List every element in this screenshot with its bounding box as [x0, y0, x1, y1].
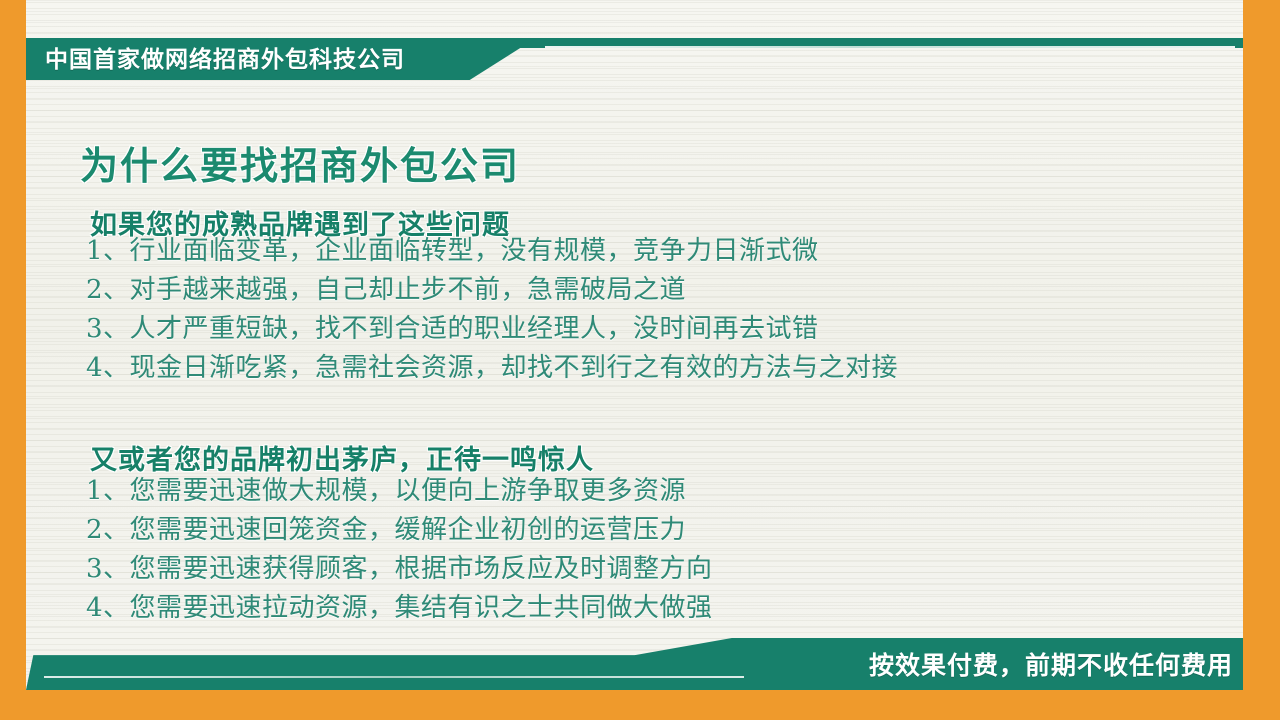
list-item: 3、人才严重短缺，找不到合适的职业经理人，没时间再去试错	[86, 310, 898, 349]
need-list-new-brand: 1、您需要迅速做大规模，以便向上游争取更多资源 2、您需要迅速回笼资金，缓解企业…	[86, 472, 713, 628]
bottom-bar-slogan: 按效果付费，前期不收任何费用	[869, 650, 1233, 682]
list-item: 4、您需要迅速拉动资源，集结有识之士共同做大做强	[86, 589, 713, 628]
top-band-accent-line	[545, 46, 1235, 48]
list-item: 4、现金日渐吃紧，急需社会资源，却找不到行之有效的方法与之对接	[86, 349, 898, 388]
list-item: 1、您需要迅速做大规模，以便向上游争取更多资源	[86, 472, 713, 511]
list-item: 3、您需要迅速获得顾客，根据市场反应及时调整方向	[86, 550, 713, 589]
bottom-bar-accent-line	[44, 676, 744, 678]
slide-canvas: 中国首家做网络招商外包科技公司 为什么要找招商外包公司 如果您的成熟品牌遇到了这…	[0, 0, 1280, 720]
list-item: 1、行业面临变革，企业面临转型，没有规模，竞争力日渐式微	[86, 232, 898, 271]
page-title: 为什么要找招商外包公司	[80, 143, 520, 191]
company-tagline: 中国首家做网络招商外包科技公司	[45, 44, 405, 74]
list-item: 2、您需要迅速回笼资金，缓解企业初创的运营压力	[86, 511, 713, 550]
list-item: 2、对手越来越强，自己却止步不前，急需破局之道	[86, 271, 898, 310]
problem-list-mature-brand: 1、行业面临变革，企业面临转型，没有规模，竞争力日渐式微 2、对手越来越强，自己…	[86, 232, 898, 388]
